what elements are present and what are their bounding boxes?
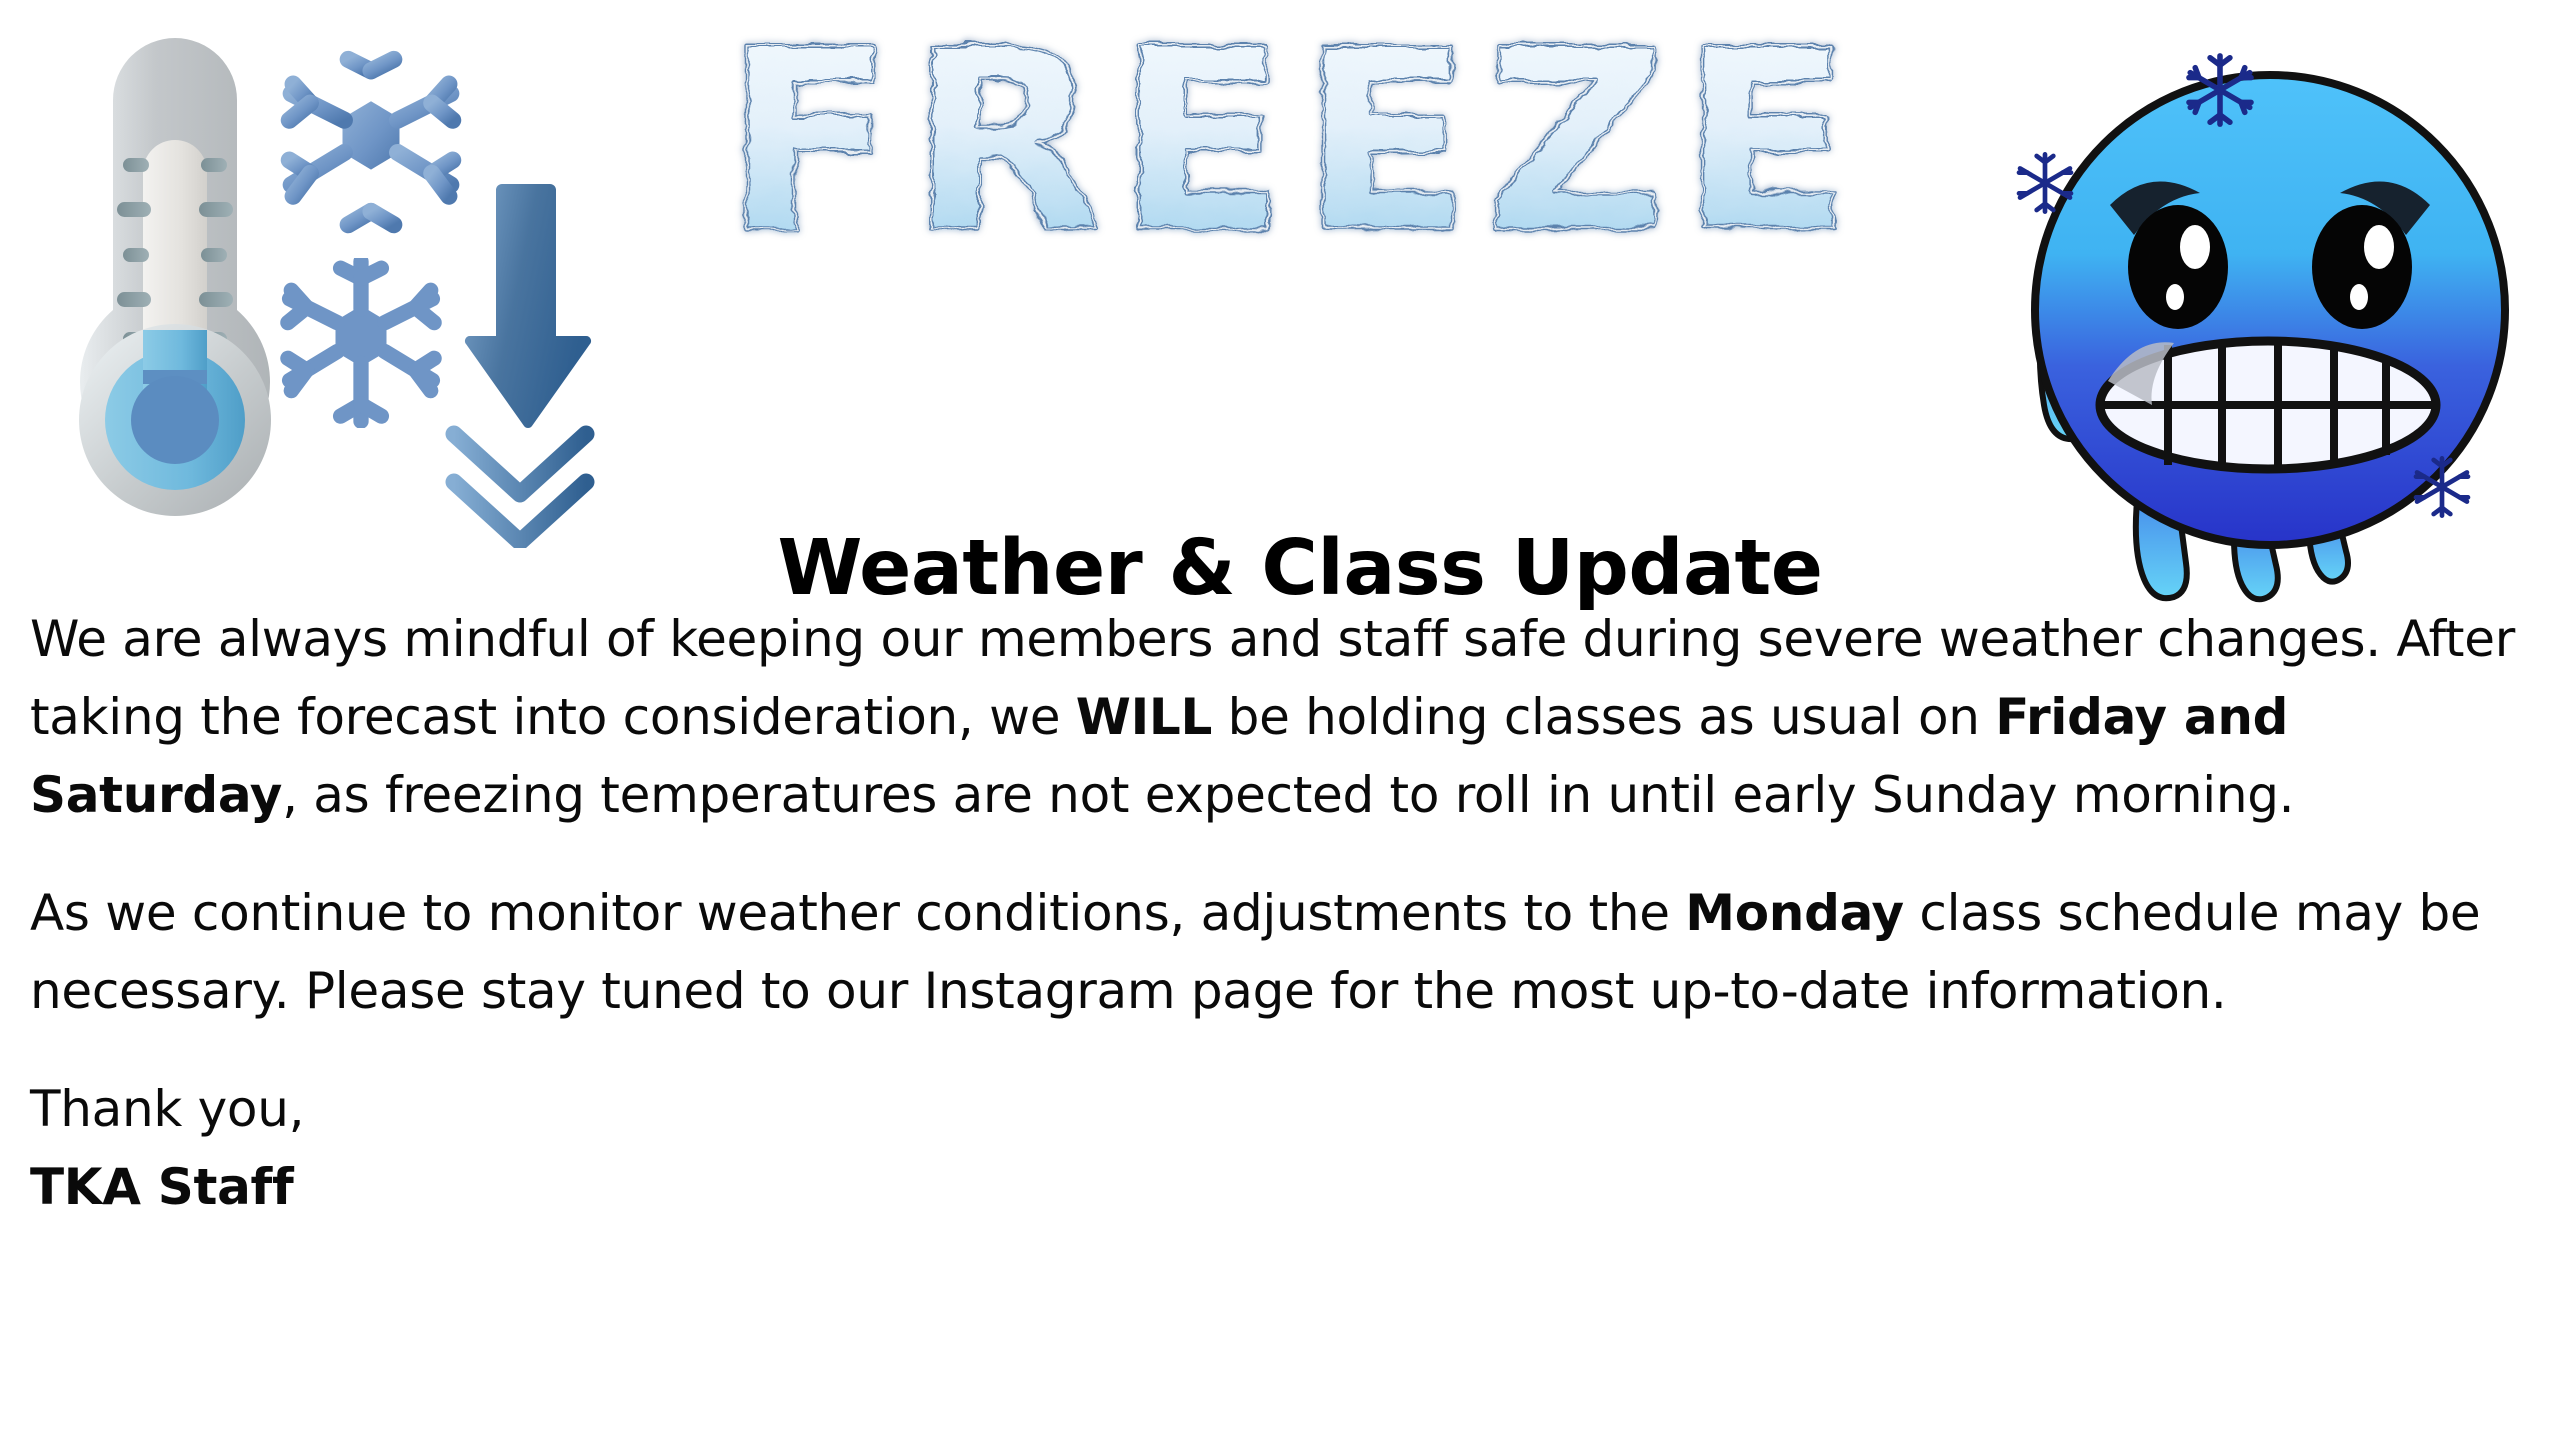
body-text: be holding classes as usual on	[1212, 688, 1995, 746]
cold-face-emoji-icon	[1990, 35, 2550, 605]
page-title: Weather & Class Update	[0, 530, 2560, 607]
body-text: As we continue to monitor weather condit…	[30, 884, 1685, 942]
body-text: , as freezing temperatures are not expec…	[282, 766, 2294, 824]
freeze-wordmark-highlight: FREEZE	[725, 18, 1866, 278]
snowflake-icon	[276, 258, 446, 428]
thermometer-cold-icon	[55, 30, 295, 540]
header-graphics-band: FREEZE FREEZE	[0, 0, 2560, 600]
paragraph-1: We are always mindful of keeping our mem…	[30, 600, 2540, 834]
signature: Thank you,TKA Staff	[30, 1070, 2540, 1226]
emphasis-text: WILL	[1076, 688, 1212, 746]
freeze-wordmark: FREEZE FREEZE	[670, 18, 1920, 278]
emphasis-text: Monday	[1685, 884, 1904, 942]
body-text: Thank you,	[30, 1080, 304, 1138]
emphasis-text: TKA Staff	[30, 1158, 293, 1216]
temperature-dropping-down-arrow-icon	[432, 178, 632, 548]
announcement-body: We are always mindful of keeping our mem…	[30, 600, 2540, 1226]
paragraph-2: As we continue to monitor weather condit…	[30, 874, 2540, 1030]
